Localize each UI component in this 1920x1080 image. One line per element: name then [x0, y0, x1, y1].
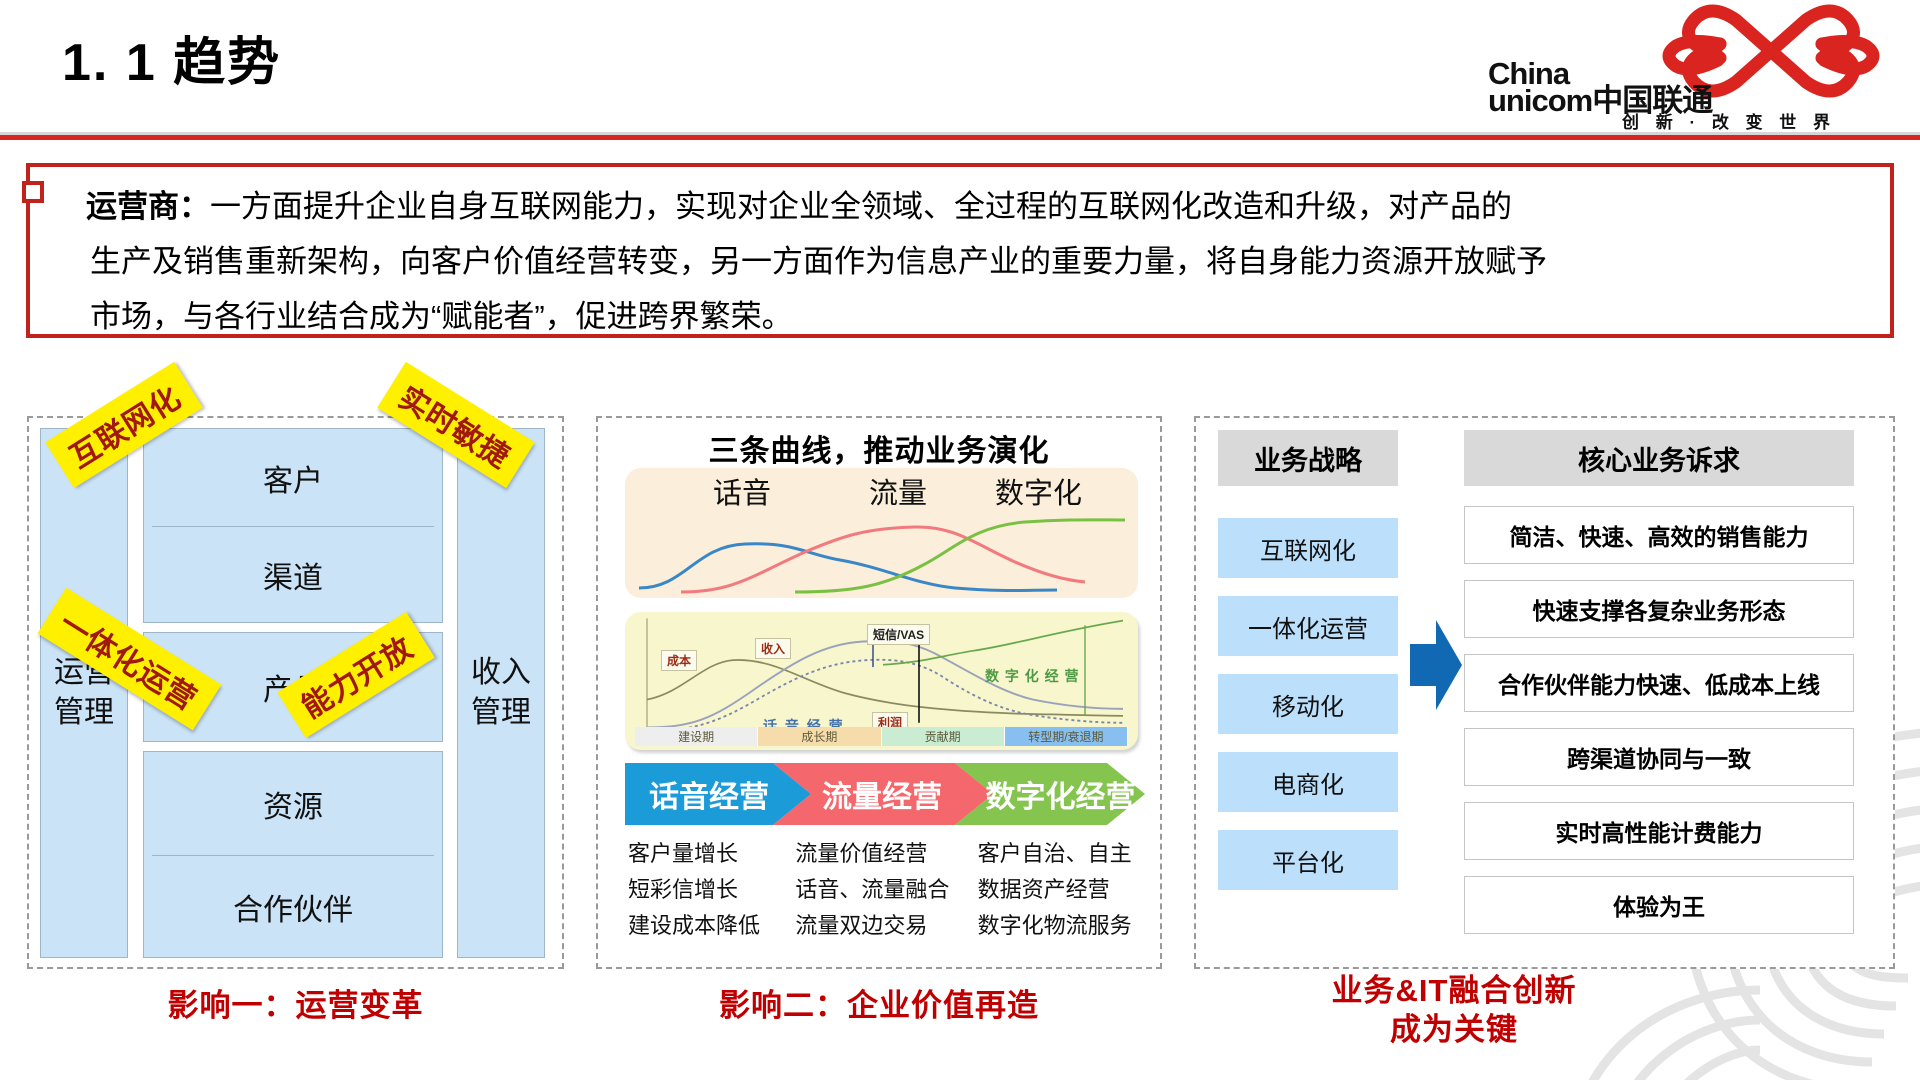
caption-key-conclusion: 业务&IT融合创新 成为关键 — [1194, 972, 1714, 1050]
demand-realtime-billing[interactable]: 实时高性能计费能力 — [1464, 802, 1854, 860]
caption-impact-one: 影响一：运营变革 — [27, 987, 564, 1026]
legend-digital: 数字化 — [995, 470, 1082, 512]
strategy-internetization[interactable]: 互联网化 — [1218, 518, 1398, 578]
demand-experience-first[interactable]: 体验为王 — [1464, 876, 1854, 934]
callout-line-3: 市场，与各行业结合成为“赋能者”，促进跨界繁荣。 — [46, 289, 1876, 344]
evolution-detail-lists: 客户量增长 短彩信增长 建设成本降低 流量价值经营 话音、流量融合 流量双边交易… — [620, 836, 1145, 944]
phase-growth: 成长期 — [758, 727, 881, 746]
cell-customer: 客户 — [144, 429, 442, 526]
label-revenue: 收入 — [755, 638, 791, 659]
list-item: 流量价值经营 — [795, 836, 977, 872]
cell-resource: 资源 — [144, 752, 442, 855]
lifecycle-phase-strip: 建设期 成长期 贡献期 转型期/衰退期 — [635, 727, 1128, 746]
curve-legend: 话音 流量 数字化 — [625, 470, 1138, 512]
cell-partner: 合作伙伴 — [144, 856, 442, 958]
mid-panel-title: 三条曲线，推动业务演化 — [598, 426, 1160, 470]
list-item: 数据资产经营 — [978, 872, 1145, 908]
demand-cross-channel[interactable]: 跨渠道协同与一致 — [1464, 728, 1854, 786]
phase-contribution: 贡献期 — [882, 727, 1005, 746]
chevron-voice-operation: 话音经营 — [629, 763, 789, 825]
list-data: 流量价值经营 话音、流量融合 流量双边交易 — [795, 836, 977, 944]
callout-bullet-icon — [22, 181, 44, 203]
callout-box: 运营商：一方面提升企业自身互联网能力，实现对企业全领域、全过程的互联网化改造和升… — [26, 163, 1894, 338]
strategy-unified-operation[interactable]: 一体化运营 — [1218, 596, 1398, 656]
list-item: 数字化物流服务 — [978, 908, 1145, 944]
three-curves-svg — [625, 510, 1138, 596]
list-digital: 客户自治、自主 数据资产经营 数字化物流服务 — [978, 836, 1145, 944]
demand-partner-onboarding[interactable]: 合作伙伴能力快速、低成本上线 — [1464, 654, 1854, 712]
legend-data: 流量 — [869, 470, 927, 512]
strategy-platformization[interactable]: 平台化 — [1218, 830, 1398, 890]
header-business-strategy: 业务战略 — [1218, 430, 1398, 486]
right-side-revenue-management: 收入管理 — [457, 428, 545, 958]
left-side-operation-management: 运营管理 — [40, 428, 128, 958]
phase-transition: 转型期/衰退期 — [1005, 727, 1128, 746]
caption-impact-two: 影响二：企业价值再造 — [596, 987, 1162, 1026]
chevron-data-operation: 流量经营 — [797, 763, 967, 825]
callout-line-1: 运营商：一方面提升企业自身互联网能力，实现对企业全领域、全过程的互联网化改造和升… — [46, 179, 1876, 234]
cell-channel: 渠道 — [144, 527, 442, 623]
page-title: 1. 1 趋势 — [62, 20, 281, 95]
group-resource-partner: 资源 合作伙伴 — [143, 751, 443, 958]
header-divider — [0, 132, 1920, 140]
list-item: 客户量增长 — [628, 836, 795, 872]
slide-root: 1. 1 趋势 China unicom中国联通 创 新 · 改 变 世 界 运… — [0, 0, 1920, 1080]
demand-sales-capability[interactable]: 简洁、快速、高效的销售能力 — [1464, 506, 1854, 564]
lifecycle-chart: 成本 收入 短信/VAS 利润 话 音 经 营 数 字 化 经 营 建设期 成长… — [625, 612, 1138, 750]
list-item: 客户自治、自主 — [978, 836, 1145, 872]
list-item: 话音、流量融合 — [795, 872, 977, 908]
business-evolution-chevrons: 话音经营 流量经营 数字化经营 — [625, 763, 1145, 825]
caption-line-2: 成为关键 — [1194, 1011, 1714, 1050]
right-arrow-icon — [1410, 616, 1462, 714]
group-customer-channel: 客户 渠道 — [143, 428, 443, 623]
three-curves-chart: 话音 流量 数字化 — [625, 468, 1138, 598]
legend-voice: 话音 — [713, 470, 771, 512]
callout-line-2: 生产及销售重新架构，向客户价值经营转变，另一方面作为信息产业的重要力量，将自身能… — [46, 234, 1876, 289]
list-item: 建设成本降低 — [628, 908, 795, 944]
label-digital-operation: 数 字 化 经 营 — [985, 666, 1080, 686]
list-item: 短彩信增长 — [628, 872, 795, 908]
logo-tagline: 创 新 · 改 变 世 界 — [1622, 108, 1836, 133]
caption-line-1: 业务&IT融合创新 — [1194, 972, 1714, 1011]
strategy-mobilization[interactable]: 移动化 — [1218, 674, 1398, 734]
strategy-ecommerce[interactable]: 电商化 — [1218, 752, 1398, 812]
list-voice: 客户量增长 短彩信增长 建设成本降低 — [620, 836, 795, 944]
panel-enterprise-value: 三条曲线，推动业务演化 话音 流量 数字化 — [596, 416, 1162, 969]
header-core-demand: 核心业务诉求 — [1464, 430, 1854, 486]
panel-business-it-convergence: 业务战略 核心业务诉求 互联网化 一体化运营 移动化 电商化 平台化 简洁、快速… — [1194, 416, 1895, 969]
china-unicom-logo: China unicom中国联通 创 新 · 改 变 世 界 — [1476, 4, 1896, 134]
label-sms-vas: 短信/VAS — [867, 624, 930, 645]
list-item: 流量双边交易 — [795, 908, 977, 944]
label-cost: 成本 — [661, 650, 697, 671]
demand-complex-support[interactable]: 快速支撑各复杂业务形态 — [1464, 580, 1854, 638]
chevron-digital-operation: 数字化经营 — [973, 763, 1148, 825]
phase-construction: 建设期 — [635, 727, 758, 746]
